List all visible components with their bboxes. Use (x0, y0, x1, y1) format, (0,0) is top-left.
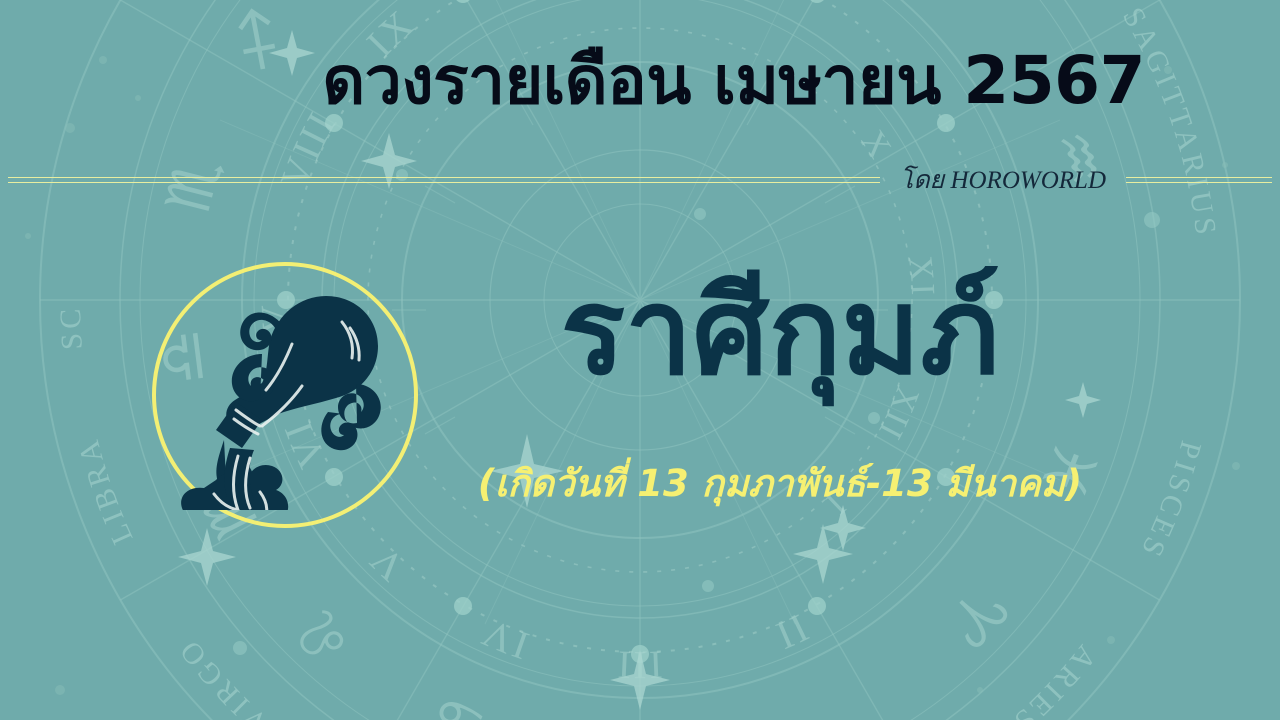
aquarius-water-urn-icon (174, 280, 396, 510)
wheel-label-aries: ARIES (1005, 639, 1103, 720)
wheel-numeral-iv: IV (474, 610, 534, 669)
wheel-glyph-taurus: ♉ (732, 701, 806, 720)
byline-divider-row: โดย HOROWORLD (0, 160, 1280, 200)
wheel-glyph-leo: ♌ (279, 591, 370, 682)
wheel-numeral-ii: II (768, 606, 815, 660)
zodiac-sign-name: ราศีกุมภ์ (430, 258, 1130, 408)
wheel-label-pisces: PISCES (1133, 437, 1207, 565)
wheel-label-sagittarius: SAGITTARIUS (1116, 2, 1223, 240)
wheel-numeral-iii: III (615, 642, 664, 688)
wheel-numeral-v: V (360, 536, 413, 590)
horoscope-banner: ARIES TAURUS LEO VIRGO LIBRA SCORPIO (0, 0, 1280, 720)
zodiac-emblem (152, 262, 418, 528)
page-title: ดวงรายเดือน เมษายน 2567 (0, 46, 1145, 115)
wheel-label-libra: LIBRA (71, 433, 139, 549)
wheel-glyph-cancer: ♋ (417, 679, 497, 720)
wheel-label-virgo: VIRGO (171, 632, 274, 720)
zodiac-date-range: (เกิดวันที่ 13 กุมภาพันธ์-13 มีนาคม) (430, 462, 1130, 506)
wheel-glyph-aries: ♈ (931, 571, 1022, 661)
divider-line-right (1118, 177, 1280, 184)
divider-line-left (0, 177, 888, 184)
byline-credit: โดย HOROWORLD (888, 160, 1118, 200)
